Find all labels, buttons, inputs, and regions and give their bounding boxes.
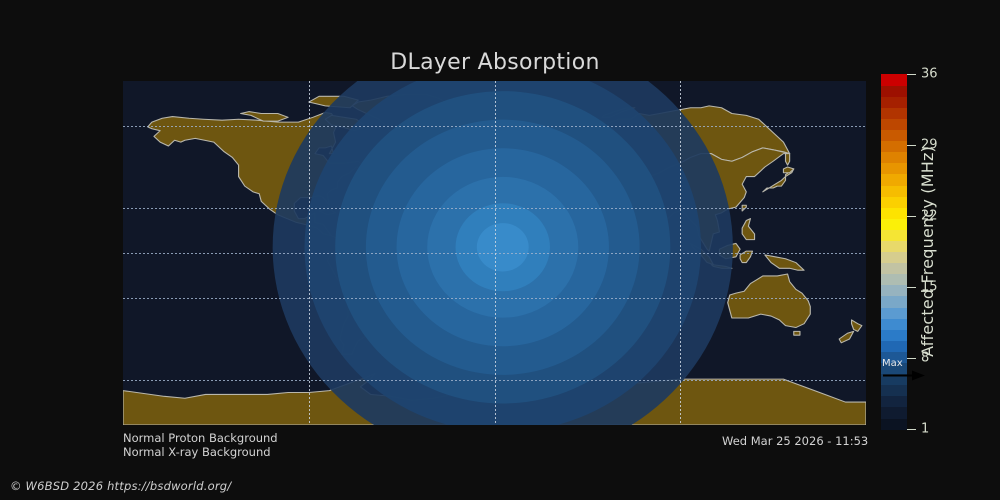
colorbar-band — [881, 296, 907, 308]
colorbar-band — [881, 152, 907, 164]
colorbar-band — [881, 240, 907, 252]
colorbar-band — [881, 96, 907, 108]
chart-canvas: DLayer Absorption 3629221581 Affected Fr… — [0, 0, 1000, 500]
max-marker-label: Max — [882, 359, 903, 369]
colorbar-tick-mark — [907, 429, 916, 430]
map-landmasses — [123, 81, 866, 425]
colorbar-band — [881, 385, 907, 397]
colorbar-band — [881, 85, 907, 97]
colorbar-band — [881, 196, 907, 208]
colorbar-band — [881, 185, 907, 197]
colorbar-band — [881, 418, 907, 430]
colorbar-band — [881, 307, 907, 319]
landmass — [474, 148, 482, 154]
colorbar-band — [881, 218, 907, 230]
colorbar-band — [881, 285, 907, 297]
colorbar-band — [881, 229, 907, 241]
colorbar-band — [881, 329, 907, 341]
colorbar-band — [881, 274, 907, 286]
landmass — [794, 331, 800, 335]
max-marker: Max — [882, 359, 928, 381]
colorbar-axis-title-label: Affected Frequency (MHz) — [918, 146, 937, 357]
timestamp-label: Wed Mar 25 2026 - 11:53 — [722, 434, 868, 448]
colorbar-band — [881, 129, 907, 141]
arrow-right-icon — [882, 370, 926, 381]
credit-label: © W6BSD 2026 https://bsdworld.org/ — [10, 479, 231, 493]
colorbar-band — [881, 163, 907, 175]
colorbar-band — [881, 107, 907, 119]
page-title: DLayer Absorption — [0, 50, 990, 75]
colorbar-band — [881, 74, 907, 86]
landmass — [786, 154, 790, 165]
colorbar-band — [881, 318, 907, 330]
colorbar-band — [881, 340, 907, 352]
proton-background-note: Normal Proton Background — [123, 431, 278, 445]
colorbar-band — [881, 252, 907, 264]
colorbar-band — [881, 118, 907, 130]
colorbar-band — [881, 407, 907, 419]
colorbar-band — [881, 207, 907, 219]
colorbar-band — [881, 174, 907, 186]
xray-background-note: Normal X-ray Background — [123, 445, 271, 459]
world-map — [123, 81, 866, 425]
colorbar-band — [881, 141, 907, 153]
colorbar-band — [881, 263, 907, 275]
colorbar-band — [881, 396, 907, 408]
